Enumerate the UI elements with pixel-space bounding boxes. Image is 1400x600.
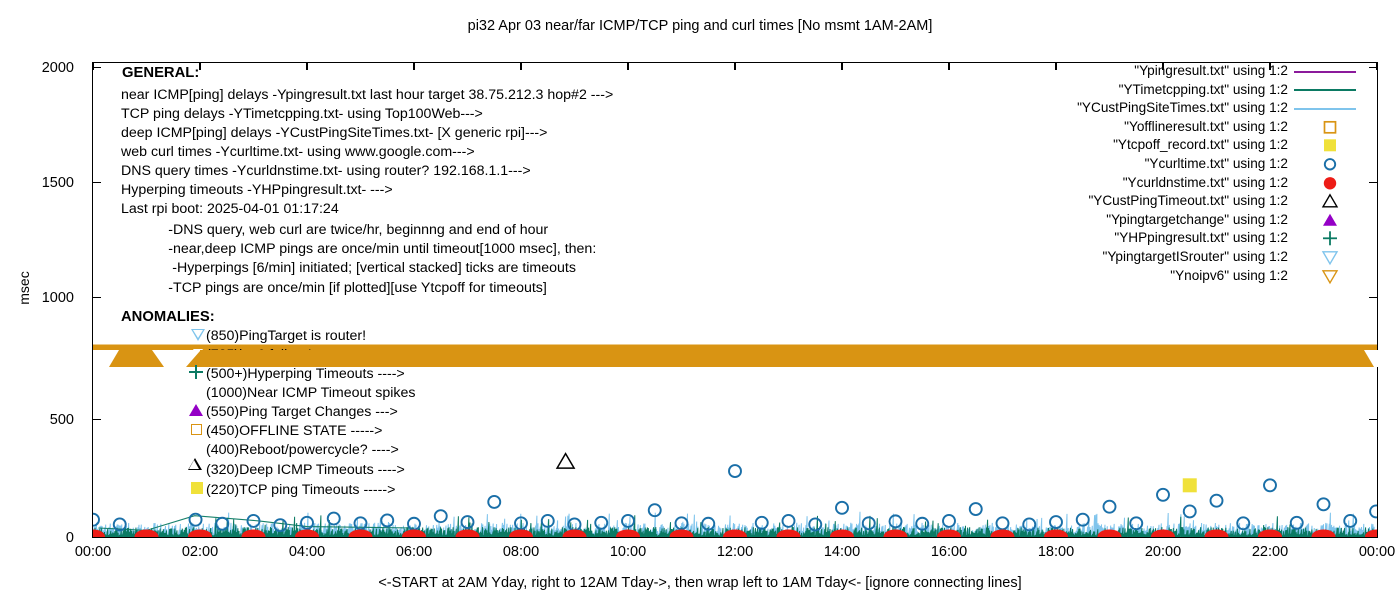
x-tick-label: 02:00	[168, 545, 232, 560]
anomaly-label-7: (320)Deep ICMP Timeouts ---->	[206, 461, 405, 480]
triangle-up-open-icon	[188, 458, 202, 470]
anomaly-label-2: (500+)Hyperping Timeouts ---->	[206, 365, 405, 384]
square-open-orange-icon	[191, 424, 202, 435]
legend-entry: "Ycurltime.txt" using 1:2	[940, 155, 1380, 174]
legend-key-line-icon	[1288, 81, 1372, 100]
legend-key-circle-fill-icon	[1288, 174, 1372, 193]
x-tickmark-top	[413, 62, 414, 70]
x-tick-label: 20:00	[1131, 545, 1195, 560]
x-tickmark	[306, 530, 307, 538]
x-tickmark	[1055, 530, 1056, 538]
triangle-up-purple-icon	[189, 404, 203, 416]
x-tickmark-top	[734, 62, 735, 70]
general-heading: GENERAL:	[122, 64, 199, 83]
x-tickmark	[1162, 530, 1163, 538]
legend-label: "Ycurldnstime.txt" using 1:2	[1123, 174, 1288, 193]
legend-key-square-fill-icon	[1288, 136, 1372, 155]
chart-title: pi32 Apr 03 near/far ICMP/TCP ping and c…	[0, 18, 1400, 34]
x-tick-label: 16:00	[917, 545, 981, 560]
anomaly-label-8: (220)TCP ping Timeouts ----->	[206, 481, 395, 500]
legend-key-plus-icon	[1288, 229, 1372, 248]
x-tick-label: 08:00	[489, 545, 553, 560]
x-axis-label: <-START at 2AM Yday, right to 12AM Tday-…	[0, 575, 1400, 591]
legend-key-line-icon	[1288, 99, 1372, 118]
y-tick-0: 0	[0, 531, 74, 546]
legend-entry: "Yofflineresult.txt" using 1:2	[940, 118, 1380, 137]
x-tickmark-top	[92, 62, 93, 70]
x-tickmark	[734, 530, 735, 538]
legend-label: "Ynoipv6" using 1:2	[1170, 267, 1288, 286]
general-line-2: TCP ping delays -YTimetcpping.txt- using…	[121, 105, 483, 124]
square-fill-yellow-icon	[191, 482, 203, 494]
legend-entry: "Ypingtargetchange" using 1:2	[940, 211, 1380, 230]
x-tick-label: 00:00	[61, 545, 125, 560]
anomalies-heading: ANOMALIES:	[121, 308, 215, 327]
legend-label: "Yofflineresult.txt" using 1:2	[1124, 118, 1288, 137]
ping-times-chart: pi32 Apr 03 near/far ICMP/TCP ping and c…	[0, 0, 1400, 600]
anomaly-label-0: (850)PingTarget is router!	[206, 327, 366, 346]
legend-key-triangle-dn-lblue-icon	[1288, 248, 1372, 267]
x-tick-label: 00:00	[1345, 545, 1400, 560]
x-tickmark	[413, 530, 414, 538]
legend-entry: "YCustPingTimeout.txt" using 1:2	[940, 192, 1380, 211]
x-tickmark	[841, 530, 842, 538]
x-tickmark-top	[520, 62, 521, 70]
x-tickmark-top	[199, 62, 200, 70]
x-tickmark	[627, 530, 628, 538]
general-line-4: web curl times -Ycurltime.txt- using www…	[121, 143, 475, 162]
y-tickmark-right	[1369, 297, 1378, 298]
anomaly-label-6: (400)Reboot/powercycle? ---->	[206, 441, 399, 460]
legend-line-swatch	[1294, 89, 1356, 91]
x-tickmark-top	[306, 62, 307, 70]
x-tickmark	[948, 530, 949, 538]
x-tick-label: 14:00	[810, 545, 874, 560]
anomaly-label-3: (1000)Near ICMP Timeout spikes	[206, 384, 415, 403]
legend-key-circle-open-icon	[1288, 155, 1372, 174]
legend-key-triangle-up-open-icon	[1288, 192, 1372, 211]
legend-key-triangle-up-fill-icon	[1288, 211, 1372, 230]
x-tickmark-top	[627, 62, 628, 70]
y-tick-1000: 1000	[0, 291, 74, 306]
y-tickmark	[92, 419, 101, 420]
x-tickmark	[199, 530, 200, 538]
general-line-5: DNS query times -Ycurldnstime.txt- using…	[121, 162, 531, 181]
legend-entry: "YHPpingresult.txt" using 1:2	[940, 229, 1380, 248]
general-line-9: -near,deep ICMP pings are once/min until…	[121, 240, 596, 259]
anomaly-label-5: (450)OFFLINE STATE ----->	[206, 422, 382, 441]
x-tickmark	[520, 530, 521, 538]
general-line-1: near ICMP[ping] delays -Ypingresult.txt …	[121, 86, 613, 105]
legend-line-swatch	[1294, 71, 1356, 73]
legend-entry: "Ynoipv6" using 1:2	[940, 267, 1380, 286]
x-tickmark	[1269, 530, 1270, 538]
general-line-6: Hyperping timeouts -YHPpingresult.txt- -…	[121, 181, 393, 200]
legend-key-line-icon	[1288, 62, 1372, 81]
x-tickmark-top	[841, 62, 842, 70]
legend-label: "YpingtargetISrouter" using 1:2	[1103, 248, 1288, 267]
anomaly-label-4: (550)Ping Target Changes --->	[206, 403, 398, 422]
legend-key-triangle-dn-orange-icon	[1288, 267, 1372, 286]
legend-label: "YCustPingTimeout.txt" using 1:2	[1088, 192, 1288, 211]
legend-key-square-open-icon	[1288, 118, 1372, 137]
triangle-down-lightblue-icon	[191, 329, 205, 341]
legend-entry: "YCustPingSiteTimes.txt" using 1:2	[940, 99, 1380, 118]
y-tick-500: 500	[0, 413, 74, 428]
general-line-8: -DNS query, web curl are twice/hr, begin…	[121, 221, 548, 240]
general-line-11: -TCP pings are once/min [if plotted][use…	[121, 279, 547, 298]
legend: "Ypingresult.txt" using 1:2"YTimetcpping…	[940, 62, 1380, 285]
x-tick-label: 10:00	[596, 545, 660, 560]
legend-label: "YCustPingSiteTimes.txt" using 1:2	[1077, 99, 1288, 118]
y-axis-ticks: 2000 1500 1000 500 0	[0, 0, 92, 600]
legend-entry: "Ycurldnstime.txt" using 1:2	[940, 174, 1380, 193]
legend-label: "YHPpingresult.txt" using 1:2	[1114, 229, 1288, 248]
legend-label: "Ytcpoff_record.txt" using 1:2	[1113, 136, 1288, 155]
legend-label: "Ypingresult.txt" using 1:2	[1134, 62, 1288, 81]
y-tickmark	[92, 297, 101, 298]
legend-entry: "Ytcpoff_record.txt" using 1:2	[940, 136, 1380, 155]
x-tick-label: 06:00	[382, 545, 446, 560]
y-tickmark-right	[1369, 419, 1378, 420]
legend-label: "YTimetcpping.txt" using 1:2	[1119, 81, 1288, 100]
general-line-7: Last rpi boot: 2025-04-01 01:17:24	[121, 200, 339, 219]
legend-entry: "YpingtargetISrouter" using 1:2	[940, 248, 1380, 267]
x-tickmark	[1376, 530, 1377, 538]
general-line-3: deep ICMP[ping] delays -YCustPingSiteTim…	[121, 124, 547, 143]
legend-line-swatch	[1294, 108, 1356, 110]
plus-icon	[189, 365, 203, 379]
general-line-10: -Hyperpings [6/min] initiated; [vertical…	[121, 259, 576, 278]
legend-entry: "YTimetcpping.txt" using 1:2	[940, 81, 1380, 100]
x-tick-label: 04:00	[275, 545, 339, 560]
x-tick-label: 22:00	[1238, 545, 1302, 560]
x-tick-label: 18:00	[1024, 545, 1088, 560]
legend-label: "Ycurltime.txt" using 1:2	[1145, 155, 1288, 174]
y-tick-2000: 2000	[0, 61, 74, 76]
x-tickmark	[92, 530, 93, 538]
y-tickmark	[92, 182, 101, 183]
legend-label: "Ypingtargetchange" using 1:2	[1106, 211, 1288, 230]
legend-entry: "Ypingresult.txt" using 1:2	[940, 62, 1380, 81]
y-tick-1500: 1500	[0, 176, 74, 191]
x-tick-label: 12:00	[703, 545, 767, 560]
